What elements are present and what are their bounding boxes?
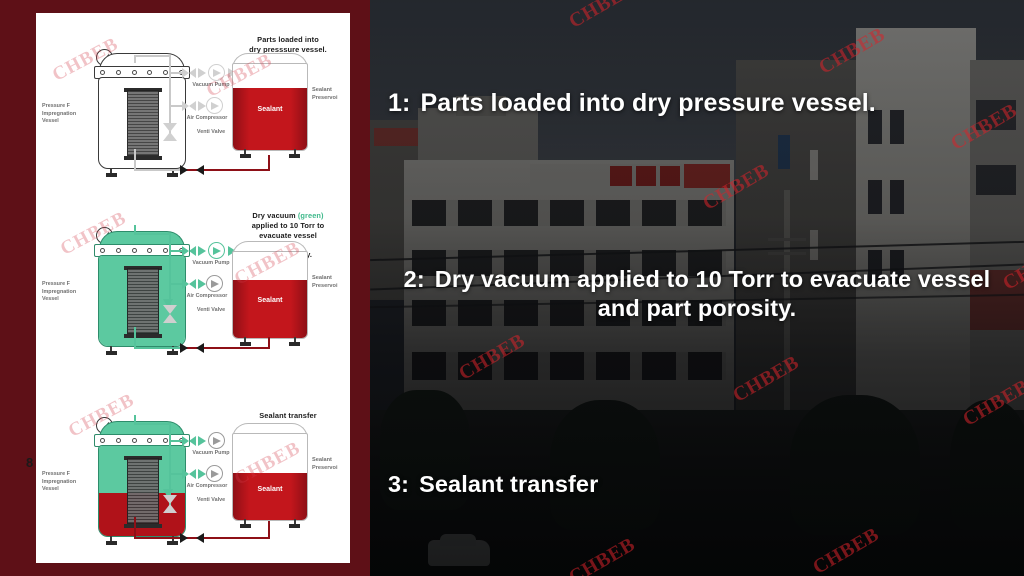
lid-bolt-icon xyxy=(132,70,137,75)
parts-basket xyxy=(127,268,159,334)
step-2-number: 2: xyxy=(404,266,425,292)
sealant-fill xyxy=(233,88,307,150)
step-1-text: 1:Parts loaded into dry pressure vessel. xyxy=(388,88,1008,119)
vent-valve-icon xyxy=(163,305,177,323)
vent-valve-icon xyxy=(163,123,177,141)
slide-stage: 8 Parts loaded into dry presssure vessel… xyxy=(0,0,1024,576)
vacuum-pump-label: Vacuum Pump xyxy=(184,260,238,268)
lid-bolt-icon xyxy=(163,248,168,253)
process-diagram-2: Dry vacuum (green) applied to 10 Torr to… xyxy=(36,203,350,381)
vent-valve-label: Venti Valve xyxy=(184,307,238,315)
vacuum-pump-label: Vacuum Pump xyxy=(184,450,238,458)
caption-line: Parts loaded into xyxy=(257,35,319,44)
lid-bolt-icon xyxy=(147,70,152,75)
right-panel: CHBEB CHBEB CHBEB CHBEB CHBEB CHBEB CHBE… xyxy=(370,0,1024,576)
caption-line: applied to 10 Torr to xyxy=(252,221,325,230)
lid-bolt-icon xyxy=(116,438,121,443)
reservoir-side-label: Sealant Preservoi xyxy=(312,275,350,290)
step-3-label: Sealant transfer xyxy=(419,471,598,497)
process-diagram-3: Sealant transfer xyxy=(36,393,350,571)
step-1-label: Parts loaded into dry pressure vessel. xyxy=(420,89,875,117)
diagram-1-caption: Parts loaded into dry presssure vessel. xyxy=(232,35,344,55)
air-compressor-label: Air Compressor xyxy=(180,115,234,123)
parts-basket xyxy=(127,90,159,156)
reservoir-body: Sealant xyxy=(232,251,308,339)
page-number: 8 xyxy=(26,455,33,470)
sealant-reservoir-3: Sealant Sealant Preservoi xyxy=(232,423,308,535)
lid-bolt-icon xyxy=(132,248,137,253)
sealant-label: Sealant xyxy=(233,486,307,493)
vent-valve-label: Venti Valve xyxy=(184,129,238,137)
step-3-number: 3: xyxy=(388,471,409,497)
lid-bolt-icon xyxy=(100,70,105,75)
document-sheet: Parts loaded into dry presssure vessel. xyxy=(36,13,350,563)
diagram-3-caption: Sealant transfer xyxy=(232,411,344,421)
caption-line: evacuate vessel xyxy=(259,231,317,240)
lid-bolt-icon xyxy=(132,438,137,443)
lid-bolt-icon xyxy=(163,438,168,443)
lid-bolt-icon xyxy=(163,70,168,75)
reservoir-body: Sealant xyxy=(232,433,308,521)
left-panel: 8 Parts loaded into dry presssure vessel… xyxy=(0,0,370,576)
lid-bolt-icon xyxy=(147,248,152,253)
sealant-label: Sealant xyxy=(233,106,307,113)
vessel-label: Pressure F Impregnation Vessel xyxy=(42,103,84,126)
reservoir-body: Sealant xyxy=(232,63,308,151)
parts-basket xyxy=(127,458,159,524)
lid-bolt-icon xyxy=(100,438,105,443)
sealant-fill xyxy=(233,280,307,338)
process-diagram-1: Parts loaded into dry presssure vessel. xyxy=(36,25,350,203)
vent-valve-icon xyxy=(163,495,177,513)
step-1-number: 1: xyxy=(388,89,410,117)
reservoir-side-label: Sealant Preservoi xyxy=(312,87,350,102)
lid-bolt-icon xyxy=(116,248,121,253)
step-2-label: Dry vacuum applied to 10 Torr to evacuat… xyxy=(435,266,991,321)
vessel-label: Pressure F Impregnation Vessel xyxy=(42,281,84,304)
step-3-text: 3:Sealant transfer xyxy=(388,470,948,499)
vacuum-pump-label: Vacuum Pump xyxy=(184,82,238,90)
step-2-text: 2:Dry vacuum applied to 10 Torr to evacu… xyxy=(380,265,1014,323)
sealant-label: Sealant xyxy=(233,297,307,304)
caption-line: Dry vacuum (green) xyxy=(252,211,323,220)
lid-bolt-icon xyxy=(116,70,121,75)
sealant-reservoir-1: Sealant Sealant Preservoi xyxy=(232,53,308,165)
lid-bolt-icon xyxy=(147,438,152,443)
air-compressor-label: Air Compressor xyxy=(180,293,234,301)
caption-green-word: (green) xyxy=(298,211,324,220)
sealant-fill xyxy=(233,473,307,520)
reservoir-side-label: Sealant Preservoi xyxy=(312,457,350,472)
lid-bolt-icon xyxy=(100,248,105,253)
vessel-label: Pressure F Impregnation Vessel xyxy=(42,471,84,494)
caption-line: Sealant transfer xyxy=(259,411,316,420)
vent-valve-label: Venti Valve xyxy=(184,497,238,505)
air-compressor-label: Air Compressor xyxy=(180,483,234,491)
